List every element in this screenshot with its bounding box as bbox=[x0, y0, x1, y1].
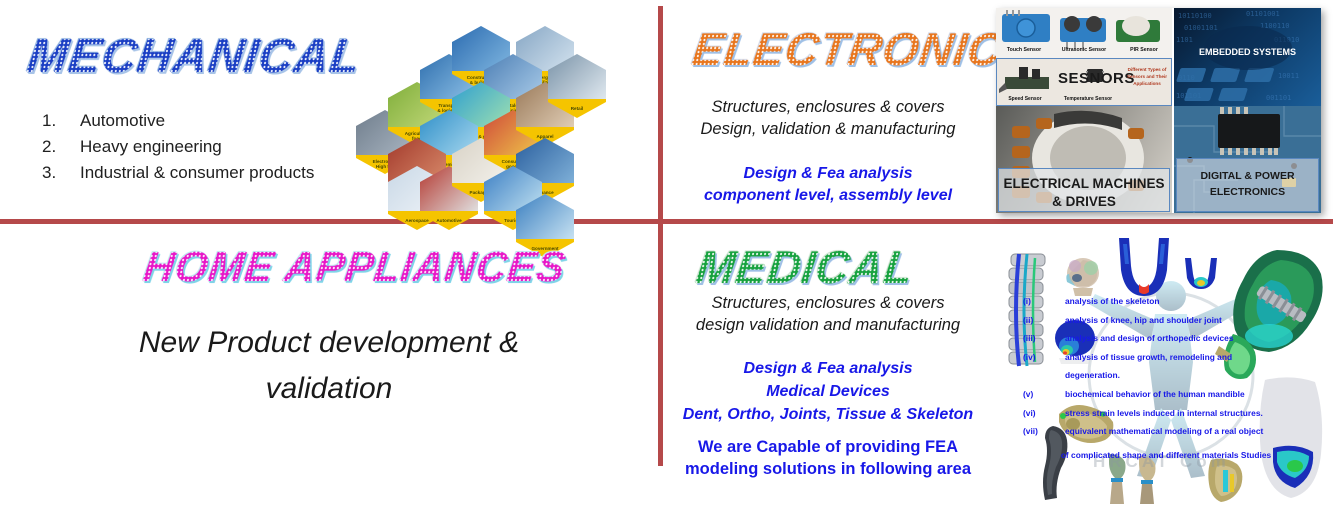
collage-sensors-side-text: Different Types of Sensors and Their App… bbox=[1124, 66, 1170, 87]
quadrant-medical: MEDICAL Structures, enclosures & covers … bbox=[663, 224, 1333, 512]
list-item-label: Automotive bbox=[80, 108, 165, 134]
medical-capability-heading-line2: modeling solutions in following area bbox=[663, 458, 993, 480]
medical-highlight-line1: Design & Fea analysis bbox=[663, 357, 993, 380]
medical-capability-item: (vi)stress strain levels induced in inte… bbox=[1023, 404, 1323, 423]
medical-capability-text: stress strain levels induced in internal… bbox=[1065, 404, 1323, 423]
collage-embedded-systems: 1011010001101001 010011011100110 1101011… bbox=[1174, 8, 1321, 108]
list-item-label: Heavy engineering bbox=[80, 134, 222, 160]
list-item-number: 1. bbox=[30, 108, 80, 134]
collage-sensor-caption-4: Speed Sensor bbox=[996, 96, 1054, 102]
medical-capability-number: (ii) bbox=[1023, 311, 1065, 330]
medical-highlight-line3: Dent, Ortho, Joints, Tissue & Skeleton bbox=[663, 403, 993, 426]
svg-text:10011: 10011 bbox=[1278, 72, 1299, 80]
medical-subtitle-line2: design validation and manufacturing bbox=[663, 314, 993, 336]
collage-sensor-caption-3: PIR Sensor bbox=[1116, 47, 1172, 53]
medical-capability-text: analysis of tissue growth, remodeling an… bbox=[1065, 348, 1323, 367]
slide-canvas: MECHANICAL 1. Automotive 2. Heavy engine… bbox=[0, 0, 1333, 512]
svg-text:10110100: 10110100 bbox=[1178, 12, 1212, 20]
home-appliances-body: New Product development & validation bbox=[0, 320, 658, 412]
list-item-label: Industrial & consumer products bbox=[80, 160, 314, 186]
svg-text:1101: 1101 bbox=[1176, 36, 1193, 44]
collage-embedded-label: EMBEDDED SYSTEMS bbox=[1174, 46, 1321, 58]
medical-capability-number: (vi) bbox=[1023, 404, 1065, 423]
medical-capability-heading-line1: We are Capable of providing FEA bbox=[663, 436, 993, 458]
medical-capabilities-tail: of complicated shape and different mater… bbox=[1011, 450, 1321, 460]
medical-capabilities-list: (i)analysis of the skeleton(ii)analysis … bbox=[1023, 292, 1323, 441]
collage-sensor-caption-5: Temperature Sensor bbox=[1052, 96, 1124, 102]
electronic-subtitle-line2: Design, validation & manufacturing bbox=[663, 118, 993, 140]
home-appliances-body-line1: New Product development & bbox=[0, 320, 658, 366]
electronic-highlight-line1: Design & Fea analysis bbox=[663, 163, 993, 185]
list-item-number: 2. bbox=[30, 134, 80, 160]
svg-text:01001101: 01001101 bbox=[1184, 24, 1218, 32]
medical-capability-item: (vii)equivalent mathematical modeling of… bbox=[1023, 422, 1323, 441]
collage-sensor-caption-1: Touch Sensor bbox=[996, 47, 1052, 53]
collage-sensor-caption-2: Ultrasonic Sensor bbox=[1052, 47, 1116, 53]
list-item: 2. Heavy engineering bbox=[30, 134, 314, 160]
medical-fea-panel: HRCAT Com (i)analysis of the skeleton(ii… bbox=[993, 234, 1333, 504]
medical-capability-number: (iii) bbox=[1023, 329, 1065, 348]
quadrant-home-appliances: HOME APPLIANCES New Product development … bbox=[0, 224, 658, 512]
home-appliances-title: HOME APPLIANCES bbox=[141, 246, 569, 288]
electronic-subtitle-line1: Structures, enclosures & covers bbox=[663, 96, 993, 118]
svg-text:01101001: 01101001 bbox=[1246, 10, 1280, 18]
mechanical-title: MECHANICAL bbox=[24, 33, 364, 81]
mandible-fea-icon bbox=[1111, 236, 1177, 298]
medical-capability-text: analysis and design of orthopedic device… bbox=[1065, 329, 1323, 348]
medical-capability-number: (iv) bbox=[1023, 348, 1065, 367]
medical-capability-item: (iv)analysis of tissue growth, remodelin… bbox=[1023, 348, 1323, 367]
medical-capability-item: (i)analysis of the skeleton bbox=[1023, 292, 1323, 311]
medical-capability-item: (v)biochemical behavior of the human man… bbox=[1023, 385, 1323, 404]
electronic-title: ELECTRONIC bbox=[689, 26, 1005, 72]
medical-capability-number: (vii) bbox=[1023, 422, 1065, 441]
medical-capability-text: equivalent mathematical modeling of a re… bbox=[1065, 422, 1323, 441]
medical-capability-number: (v) bbox=[1023, 385, 1065, 404]
quadrant-electronic: ELECTRONIC Structures, enclosures & cove… bbox=[663, 0, 1333, 219]
medical-capability-item: degeneration. bbox=[1023, 366, 1323, 385]
medical-title: MEDICAL bbox=[693, 244, 917, 290]
collage-electrical-machines-label: ELECTRICAL MACHINES & DRIVES bbox=[998, 175, 1170, 211]
mechanical-list: 1. Automotive 2. Heavy engineering 3. In… bbox=[30, 108, 314, 186]
svg-text:001101: 001101 bbox=[1266, 94, 1291, 102]
medical-highlight-line2: Medical Devices bbox=[663, 380, 993, 403]
medical-capability-text: biochemical behavior of the human mandib… bbox=[1065, 385, 1323, 404]
list-item: 1. Automotive bbox=[30, 108, 314, 134]
medical-capability-number: (i) bbox=[1023, 292, 1065, 311]
collage-digital-power-label: DIGITAL & POWER ELECTRONICS bbox=[1176, 168, 1319, 200]
medical-subtitle-line1: Structures, enclosures & covers bbox=[663, 292, 993, 314]
medical-capability-text: analysis of the skeleton bbox=[1065, 292, 1323, 311]
medical-capability-text: degeneration. bbox=[1065, 366, 1323, 385]
quadrant-mechanical: MECHANICAL 1. Automotive 2. Heavy engine… bbox=[0, 0, 658, 219]
medical-capability-item: (iii)analysis and design of orthopedic d… bbox=[1023, 329, 1323, 348]
list-item: 3. Industrial & consumer products bbox=[30, 160, 314, 186]
list-item-number: 3. bbox=[30, 160, 80, 186]
small-mandible-fea-icon bbox=[1181, 256, 1221, 290]
medical-capability-number bbox=[1023, 366, 1065, 385]
medical-capability-item: (ii)analysis of knee, hip and shoulder j… bbox=[1023, 311, 1323, 330]
home-appliances-body-line2: validation bbox=[0, 366, 658, 412]
circuit-binary-icon: 1011010001101001 010011011100110 1101011… bbox=[1174, 8, 1321, 108]
electronics-collage: Touch Sensor Ultrasonic Sensor PIR Senso… bbox=[996, 8, 1321, 213]
medical-capability-text: analysis of knee, hip and shoulder joint bbox=[1065, 311, 1323, 330]
electronic-highlight-line2: component level, assembly level bbox=[663, 185, 993, 207]
industry-hexagon-cluster: ElectronicsHigh tecAgriculturefoodTransp… bbox=[352, 18, 652, 218]
